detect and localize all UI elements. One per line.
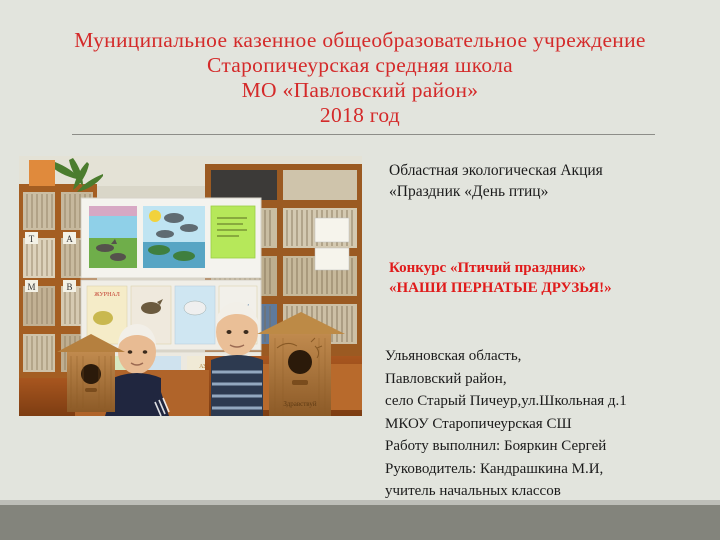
address-line-2: Павловский район, — [385, 368, 720, 391]
footer-bar — [0, 505, 720, 540]
svg-text:М: М — [27, 282, 35, 292]
svg-text:А: А — [66, 234, 73, 244]
address-line-3: село Старый Пичеур,ул.Школьная д.1 — [385, 390, 720, 413]
title-line-2: Старопичеурская средняя школа — [0, 53, 720, 78]
author-line: Работу выполнил: Бояркин Сергей — [385, 435, 720, 458]
address-block: Ульяновская область, Павловский район, с… — [385, 345, 720, 503]
action-line-2: «Праздник «День птиц» — [389, 181, 714, 202]
photo-illustration: Т А М В — [19, 156, 362, 416]
svg-text:В: В — [66, 282, 72, 292]
boy-right — [211, 302, 263, 416]
contest-line-1: Конкурс «Птичий праздник» — [389, 258, 714, 278]
title-line-1: Муниципальное казенное общеобразовательн… — [0, 28, 720, 53]
action-title: Областная экологическая Акция «Праздник … — [389, 160, 714, 202]
presentation-slide: Муниципальное казенное общеобразовательн… — [0, 0, 720, 540]
svg-text:Т: Т — [29, 234, 35, 244]
svg-text:Здравствуй: Здравствуй — [283, 400, 316, 408]
title-line-4: 2018 год — [0, 103, 720, 128]
contest-line-2: «НАШИ ПЕРНАТЫЕ ДРУЗЬЯ!» — [389, 278, 714, 298]
svg-text:ЖУРНАЛ: ЖУРНАЛ — [94, 292, 120, 298]
page-title: Муниципальное казенное общеобразовательн… — [0, 28, 720, 128]
contest-title: Конкурс «Птичий праздник» «НАШИ ПЕРНАТЫЕ… — [389, 258, 714, 298]
address-line-1: Ульяновская область, — [385, 345, 720, 368]
event-photo: Т А М В — [19, 156, 362, 416]
supervisor-line: Руководитель: Кандрашкина М.И, — [385, 458, 720, 481]
title-line-3: МО «Павловский район» — [0, 78, 720, 103]
action-line-1: Областная экологическая Акция — [389, 160, 714, 181]
address-line-4: МКОУ Старопичеурская СШ — [385, 413, 720, 436]
title-divider — [72, 134, 655, 135]
